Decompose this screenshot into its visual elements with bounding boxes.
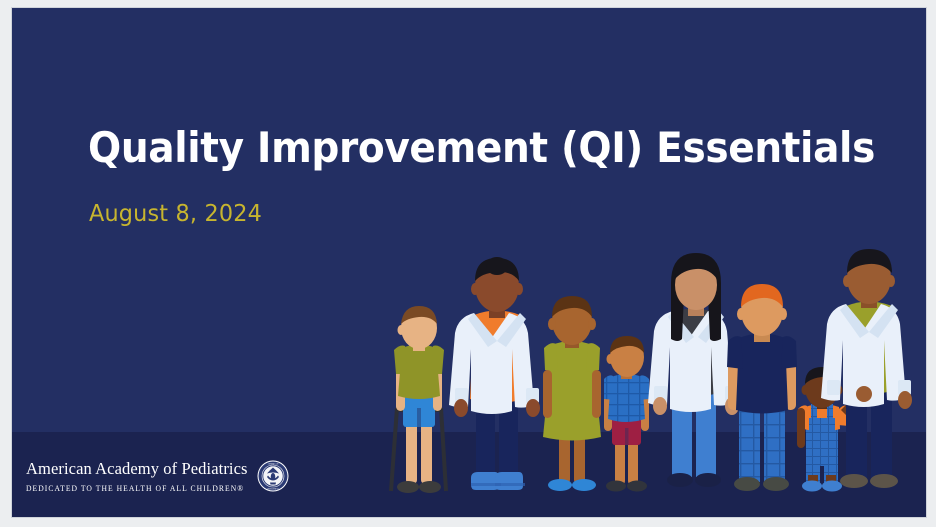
figure-child-with-crutches [391, 306, 446, 493]
figure-girl-olive-dress [543, 296, 601, 491]
figure-teen-red-hair [727, 284, 797, 491]
figure-doctor-orange-scrubs [449, 257, 540, 490]
group-illustration [12, 8, 926, 517]
slide-frame: Quality Improvement (QI) Essentials Augu… [0, 0, 936, 527]
aap-logo-name: American Academy of Pediatrics [26, 459, 248, 479]
figure-doctor-long-hair [648, 253, 739, 487]
figure-child-plaid-shirt [604, 336, 649, 492]
presentation-date: August 8, 2024 [89, 201, 262, 227]
presentation-slide: Quality Improvement (QI) Essentials Augu… [12, 8, 926, 517]
aap-logo-text: American Academy of Pediatrics DEDICATED… [26, 459, 248, 492]
aap-seal-icon: AMERICAN PEDIATRICS [257, 460, 289, 492]
aap-logo: American Academy of Pediatrics DEDICATED… [26, 459, 289, 492]
page-title: Quality Improvement (QI) Essentials [88, 126, 875, 171]
aap-logo-tagline: DEDICATED TO THE HEALTH OF ALL CHILDREN® [26, 483, 244, 493]
